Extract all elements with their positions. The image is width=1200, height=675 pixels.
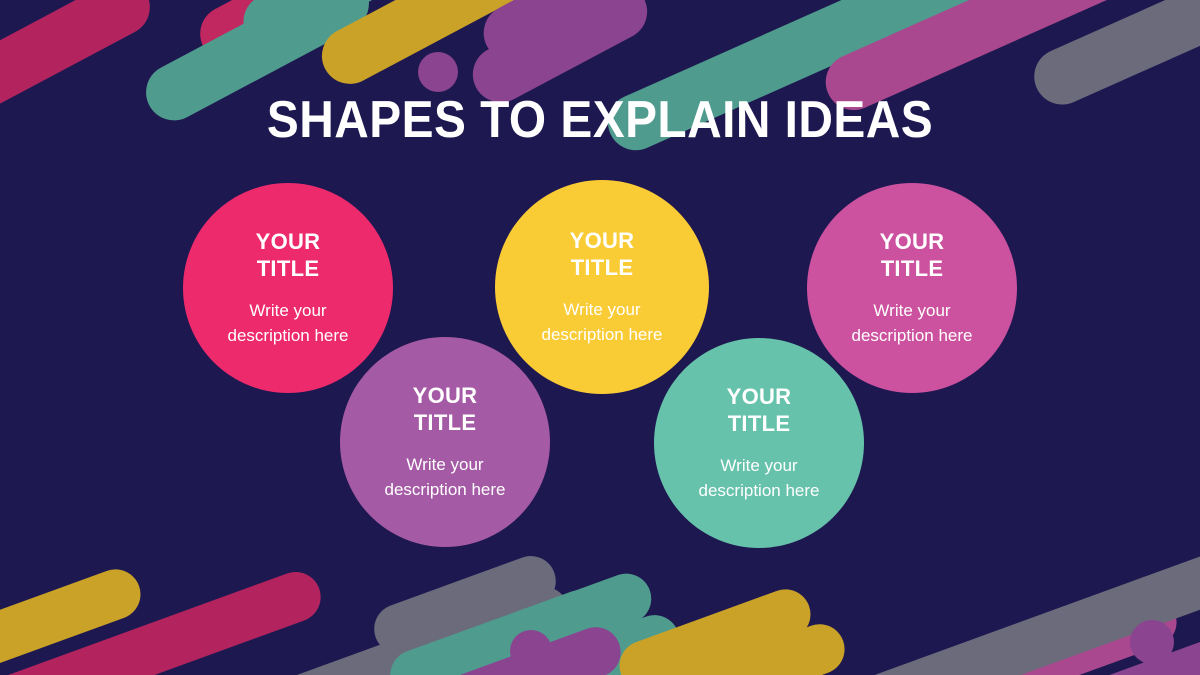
circle-4[interactable]: YOUR TITLEWrite your description here (340, 337, 550, 547)
page-title: SHAPES TO EXPLAIN IDEAS (48, 92, 1152, 149)
slide-canvas: SHAPES TO EXPLAIN IDEAS YOUR TITLEWrite … (0, 0, 1200, 675)
pill-crimson-2 (190, 0, 419, 72)
pill-gray-b2 (367, 549, 563, 661)
circle-title: YOUR TITLE (570, 227, 635, 282)
pill-teal-2 (234, 0, 437, 60)
circle-3[interactable]: YOUR TITLEWrite your description here (807, 183, 1017, 393)
circle-title: YOUR TITLE (880, 228, 945, 283)
dot-purple-top (418, 52, 458, 92)
pill-gold-b1 (0, 562, 148, 675)
pill-teal-b1 (294, 608, 687, 675)
circle-title: YOUR TITLE (727, 383, 792, 438)
circle-title: YOUR TITLE (256, 228, 321, 283)
circle-1[interactable]: YOUR TITLEWrite your description here (183, 183, 393, 393)
circle-2[interactable]: YOUR TITLEWrite your description here (495, 180, 709, 394)
pill-teal-b2 (383, 583, 612, 675)
dot-purple-bottom (510, 630, 552, 672)
pill-mauve-b1 (856, 590, 1183, 675)
pill-gray-b1 (164, 580, 576, 675)
circle-description: Write your description here (852, 299, 973, 348)
circle-5[interactable]: YOUR TITLEWrite your description here (654, 338, 864, 548)
pill-teal-b3 (477, 567, 659, 674)
pill-gold-b2 (618, 617, 851, 675)
pill-gold-1 (312, 0, 568, 94)
pill-purple-b1 (427, 620, 627, 675)
pill-gold-b4 (1082, 618, 1200, 675)
circle-description: Write your description here (228, 299, 349, 348)
circle-description: Write your description here (542, 298, 663, 347)
circle-title: YOUR TITLE (413, 382, 478, 437)
pill-crimson-b1 (0, 565, 328, 675)
circle-description: Write your description here (699, 454, 820, 503)
dot-purple-br (1130, 620, 1174, 664)
pill-gray-b3 (851, 519, 1200, 675)
pill-purple-b2 (1014, 573, 1200, 675)
circle-description: Write your description here (385, 453, 506, 502)
pill-purple-1 (474, 0, 756, 71)
pill-gold-b3 (612, 582, 817, 675)
